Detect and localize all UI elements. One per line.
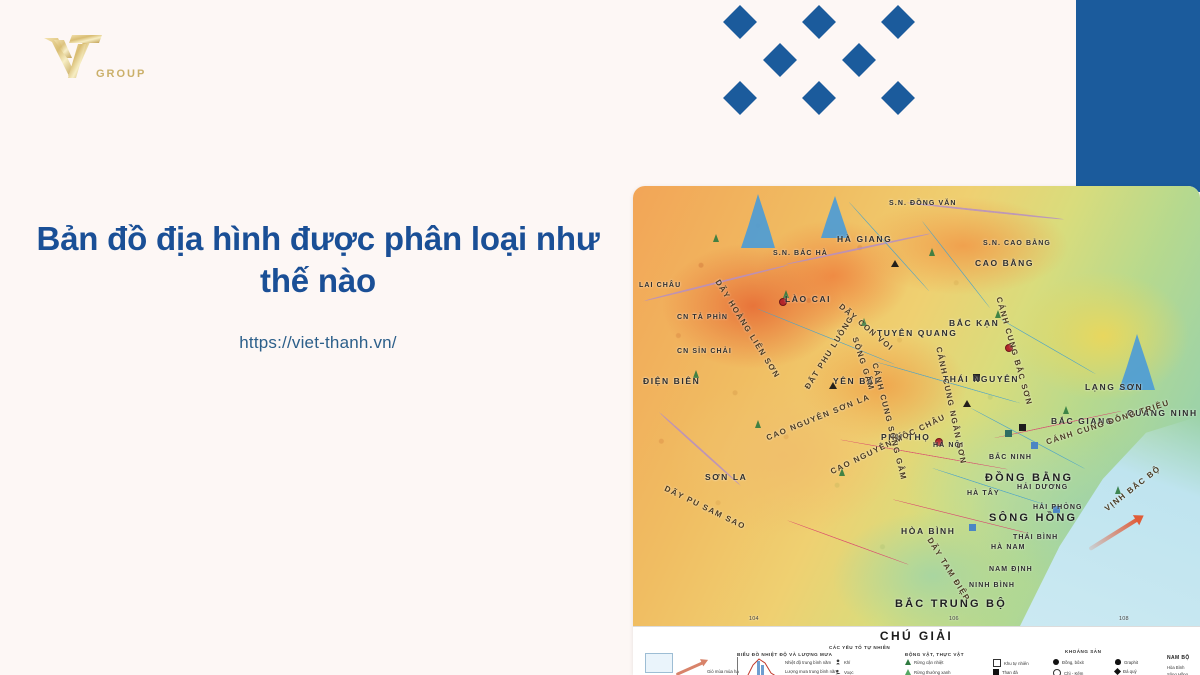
legend-item-label: Graphit	[1124, 660, 1138, 665]
slide-canvas: GROUP Bản đồ địa hình được phân loại như…	[0, 0, 1200, 675]
legend-item-label: Chì - Kẽm	[1064, 671, 1083, 675]
legend-item-gem: Đá quý	[1115, 669, 1137, 674]
capital-city-marker	[935, 438, 943, 446]
tree-light-icon	[905, 669, 911, 675]
map-body: S.N. ĐỒNG VĂN S.N. BẮC HÀ S.N. CAO BẰNG …	[633, 186, 1200, 626]
legend-item-label: Voọc	[844, 670, 854, 675]
reserve-icon	[993, 659, 1001, 667]
mineral-symbol	[1019, 424, 1026, 431]
forest-icon	[693, 370, 699, 378]
forest-icon	[861, 318, 867, 326]
copper-icon	[1053, 659, 1059, 665]
forest-icon	[995, 310, 1001, 318]
legend-item-langur: Voọc	[835, 669, 854, 675]
legend-item-evergreen-forest: Rừng thường xanh	[905, 669, 951, 675]
diamond-shape	[881, 81, 915, 115]
legend-item-label: Rừng thường xanh	[914, 670, 951, 675]
diamond-shape	[842, 43, 876, 77]
map-legend: CHÚ GIẢI CÁC YẾU TỐ TỰ NHIÊN BIỂU ĐỒ NHI…	[633, 626, 1200, 675]
mineral-symbol	[1031, 442, 1038, 449]
mineral-symbol	[973, 374, 980, 381]
legend-item-label: Đá quý	[1123, 669, 1137, 674]
legend-item-label: Lượng mưa trung bình năm	[785, 669, 838, 674]
forest-icon	[1115, 486, 1121, 494]
legend-item-label: Khỉ	[844, 660, 850, 665]
legend-item-reserve: Khu tự nhiên	[993, 659, 1029, 667]
climate-chart-curve	[739, 655, 783, 675]
legend-item-subtropical-forest: Rừng cận nhiệt	[905, 659, 943, 665]
brand-logo[interactable]: GROUP	[38, 32, 156, 92]
legend-section-label: ĐỘNG VẬT, THỰC VẬT	[905, 652, 964, 657]
legend-item-label: Khu tự nhiên	[1004, 661, 1029, 666]
blue-accent-block	[1076, 0, 1200, 192]
monsoon-arrow-icon	[676, 661, 705, 675]
mountain-peak-icon	[829, 382, 837, 389]
diamond-shape	[802, 81, 836, 115]
city-marker	[1005, 344, 1013, 352]
forest-icon	[713, 234, 719, 242]
diamond-shape	[723, 81, 757, 115]
legend-region-note: NAM BỘ	[1167, 655, 1190, 661]
legend-item-label: Nhiệt độ trung bình năm	[785, 660, 831, 665]
vt-monogram-icon	[38, 32, 156, 92]
page-title: Bản đồ địa hình được phân loại như thế n…	[8, 218, 628, 302]
diamond-shape	[802, 5, 836, 39]
graphite-icon	[1115, 659, 1121, 665]
forest-icon	[839, 468, 845, 476]
legend-region-sub: Hòa Bình	[1167, 665, 1184, 670]
legend-item: Lượng mưa trung bình năm	[785, 669, 838, 674]
lead-zinc-icon	[1053, 669, 1061, 675]
legend-item-label: Gió mùa mùa hạ	[707, 669, 739, 674]
legend-item-label: Than đá	[1002, 670, 1018, 675]
langur-icon	[835, 669, 841, 675]
city-marker	[779, 298, 787, 306]
diamond-shape	[763, 43, 797, 77]
forest-icon	[755, 420, 761, 428]
legend-item: Gió mùa mùa hạ	[707, 669, 739, 674]
mountain-peak-icon	[963, 400, 971, 407]
forest-icon	[929, 248, 935, 256]
legend-title: CHÚ GIẢI	[633, 629, 1200, 643]
monkey-icon	[835, 659, 841, 665]
source-url[interactable]: https://viet-thanh.vn/	[8, 333, 628, 353]
topographic-map-image[interactable]: S.N. ĐỒNG VĂN S.N. BẮC HÀ S.N. CAO BẰNG …	[633, 186, 1200, 675]
wind-legend-box	[645, 653, 673, 673]
forest-icon	[1063, 406, 1069, 414]
legend-item-coal: Than đá	[993, 669, 1018, 675]
legend-item: Nhiệt độ trung bình năm	[785, 660, 831, 665]
tree-dark-icon	[905, 659, 911, 665]
diamond-decor-pattern	[722, 4, 928, 114]
legend-section-label: KHOÁNG SẢN	[1065, 649, 1101, 654]
mountain-peak-icon	[891, 260, 899, 267]
coal-icon	[993, 669, 999, 675]
mineral-symbol	[969, 524, 976, 531]
legend-item-monkey: Khỉ	[835, 659, 850, 665]
legend-item-graphite: Graphit	[1115, 659, 1138, 665]
legend-item-label: Rừng cận nhiệt	[914, 660, 943, 665]
logo-wordmark: GROUP	[96, 68, 146, 80]
legend-section-label: CÁC YẾU TỐ TỰ NHIÊN	[829, 645, 890, 650]
legend-item-label: Đồng, bôxit	[1062, 660, 1084, 665]
mineral-symbol	[1005, 430, 1012, 437]
legend-item-copper: Đồng, bôxit	[1053, 659, 1084, 665]
diamond-shape	[881, 5, 915, 39]
diamond-shape	[723, 5, 757, 39]
legend-item-lead-zinc: Chì - Kẽm	[1053, 669, 1083, 675]
mineral-symbol	[1053, 506, 1060, 513]
forest-icon	[783, 290, 789, 298]
gem-icon	[1114, 668, 1121, 675]
